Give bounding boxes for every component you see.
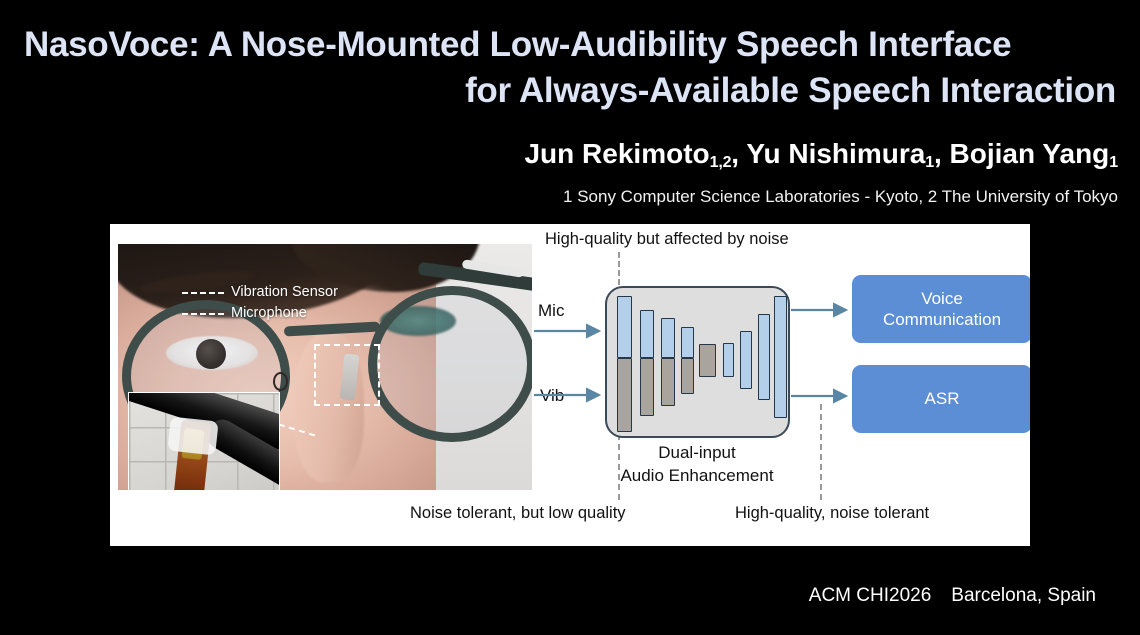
input-label-mic: Mic (538, 301, 564, 321)
author-1-affiliation-marker: 1,2 (710, 154, 732, 171)
inset-label-microphone: Microphone (182, 303, 338, 324)
inset-label-group: Vibration Sensor Microphone (182, 282, 338, 324)
sensor-closeup-inset (128, 392, 280, 490)
network-layer-bar (681, 327, 694, 358)
inset-label-text: Vibration Sensor (231, 282, 338, 303)
output-label-line2: Communication (883, 309, 1001, 330)
network-layer-bar (758, 314, 770, 400)
network-layer-bar (661, 358, 675, 406)
network-caption: Dual-input Audio Enhancement (592, 442, 802, 488)
caption-top: High-quality but affected by noise (545, 230, 789, 249)
title-block: NasoVoce: A Nose-Mounted Low-Audibility … (0, 22, 1140, 113)
inset-label-text: Microphone (231, 303, 307, 324)
affiliation-line: 1 Sony Computer Science Laboratories - K… (563, 187, 1118, 207)
author-2-name: Yu Nishimura (746, 138, 925, 169)
footer-venue: ACM CHI2026 (809, 585, 932, 606)
network-layer-bar (617, 358, 632, 432)
author-2-affiliation-marker: 1 (925, 154, 934, 171)
dual-input-network-box (605, 286, 790, 438)
author-separator-1: , (731, 138, 746, 169)
output-box-voice-communication[interactable]: Voice Communication (852, 275, 1030, 343)
eyeglasses-photo: Vibration Sensor Microphone (118, 244, 532, 490)
author-3-name: Bojian Yang (950, 138, 1110, 169)
sensor-callout-box (314, 344, 380, 406)
nose-pad-ring (273, 372, 288, 391)
inset-label-vibration-sensor: Vibration Sensor (182, 282, 338, 303)
dashed-leader-icon (182, 313, 224, 315)
caption-bottom-right: High-quality, noise tolerant (735, 504, 929, 523)
output-label-line1: ASR (925, 388, 960, 409)
author-3-affiliation-marker: 1 (1109, 154, 1118, 171)
output-label-line1: Voice (883, 288, 1001, 309)
system-overview-figure: Vibration Sensor Microphone High-quality… (110, 224, 1030, 546)
author-1-name: Jun Rekimoto (524, 138, 709, 169)
network-layer-bar (774, 296, 787, 418)
presentation-slide: NasoVoce: A Nose-Mounted Low-Audibility … (0, 0, 1140, 635)
eyeglass-lens-right (368, 286, 532, 442)
caption-bottom-left: Noise tolerant, but low quality (410, 504, 626, 523)
network-layer-bar (699, 344, 716, 377)
slide-footer: ACM CHI2026Barcelona, Spain (809, 585, 1096, 607)
author-list: Jun Rekimoto1,2, Yu Nishimura1, Bojian Y… (524, 138, 1118, 170)
network-layer-bar (723, 343, 734, 377)
network-layer-bar (681, 358, 694, 394)
network-caption-line1: Dual-input (592, 442, 802, 465)
output-box-asr[interactable]: ASR (852, 365, 1030, 433)
network-layer-bar (640, 310, 654, 358)
dashed-leader-icon (182, 292, 224, 294)
network-layer-bar (661, 318, 675, 358)
network-layer-bar (740, 331, 752, 389)
network-layer-bar (640, 358, 654, 416)
title-line-2: for Always-Available Speech Interaction (24, 68, 1116, 114)
author-separator-2: , (934, 138, 950, 169)
title-line-1: NasoVoce: A Nose-Mounted Low-Audibility … (24, 22, 1116, 68)
footer-location: Barcelona, Spain (951, 585, 1096, 606)
network-caption-line2: Audio Enhancement (592, 465, 802, 488)
input-label-vib: Vib (540, 386, 564, 406)
dashed-connector-bottom-right (820, 404, 822, 500)
network-layer-bar (617, 296, 632, 358)
inset-sensor-housing (167, 417, 218, 456)
